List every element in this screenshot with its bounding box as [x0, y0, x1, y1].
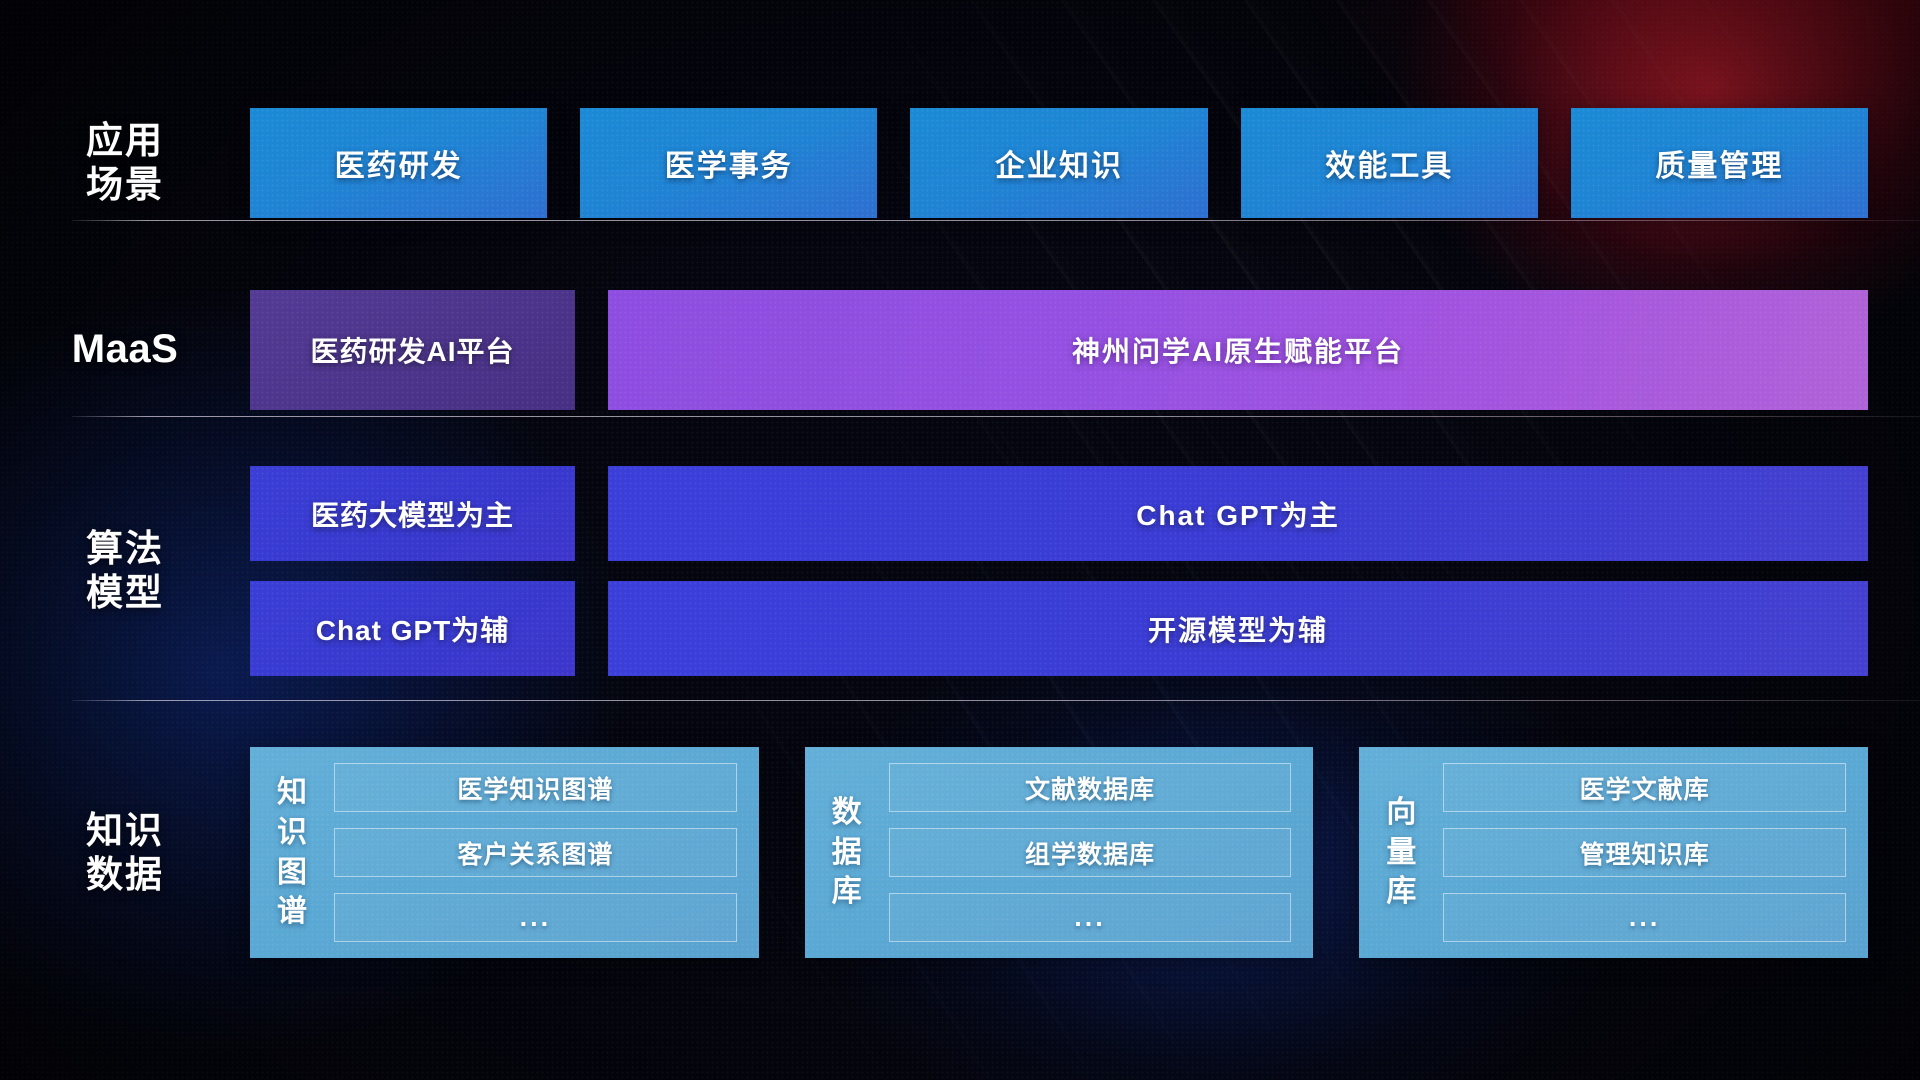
knowledge-panel-group: 知 识 图 谱 医学知识图谱 客户关系图谱 ... 数 据 库 [250, 747, 1920, 958]
row-label-applications-line2: 场景 [0, 163, 250, 207]
application-box-enterprise-knowledge[interactable]: 企业知识 [910, 108, 1207, 218]
divider-maas-algorithm [72, 416, 1920, 417]
vlabel-char: 向 [1386, 793, 1416, 833]
application-box-group: 医药研发 医学事务 企业知识 效能工具 质量管理 [250, 108, 1920, 218]
knowledge-panel-label-database: 数 据 库 [821, 763, 873, 942]
vlabel-char: 库 [832, 872, 862, 912]
row-label-maas: MaaS [0, 326, 250, 373]
layer-row-algorithm: 算法 模型 医药大模型为主 Chat GPT为主 Chat GPT为辅 开源模型… [0, 466, 1920, 676]
vlabel-char: 识 [277, 813, 307, 853]
knowledge-panel-label-knowledge-graph: 知 识 图 谱 [266, 763, 318, 942]
application-box-efficiency-tools[interactable]: 效能工具 [1241, 108, 1538, 218]
knowledge-item-literature-database[interactable]: 文献数据库 [889, 763, 1292, 812]
divider-applications-maas [72, 220, 1920, 221]
knowledge-panel-knowledge-graph[interactable]: 知 识 图 谱 医学知识图谱 客户关系图谱 ... [250, 747, 759, 958]
row-label-knowledge-line2: 数据 [0, 853, 250, 897]
row-label-algorithm-line2: 模型 [0, 571, 250, 615]
knowledge-item-medical-literature-store[interactable]: 医学文献库 [1443, 763, 1846, 812]
algorithm-row-secondary: Chat GPT为辅 开源模型为辅 [250, 581, 1868, 676]
knowledge-item-omics-database[interactable]: 组学数据库 [889, 828, 1292, 877]
maas-box-group: 医药研发AI平台 神州问学AI原生赋能平台 [250, 290, 1920, 410]
row-label-applications-line1: 应用 [0, 119, 250, 163]
row-label-algorithm: 算法 模型 [0, 527, 250, 614]
knowledge-item-customer-relation-graph[interactable]: 客户关系图谱 [334, 828, 737, 877]
algorithm-box-chatgpt-primary[interactable]: Chat GPT为主 [608, 466, 1868, 561]
vlabel-char: 谱 [277, 892, 307, 932]
vlabel-char: 库 [1386, 872, 1416, 912]
knowledge-item-list: 医学文献库 管理知识库 ... [1443, 763, 1846, 942]
knowledge-item-more-graph[interactable]: ... [334, 893, 737, 942]
layer-row-maas: MaaS 医药研发AI平台 神州问学AI原生赋能平台 [0, 290, 1920, 410]
maas-box-shenzhou-wenxue-platform[interactable]: 神州问学AI原生赋能平台 [608, 290, 1868, 410]
row-label-algorithm-line1: 算法 [0, 527, 250, 571]
vlabel-char: 量 [1386, 833, 1416, 873]
layer-row-applications: 应用 场景 医药研发 医学事务 企业知识 效能工具 质量管理 [0, 108, 1920, 218]
algorithm-box-opensource-secondary[interactable]: 开源模型为辅 [608, 581, 1868, 676]
knowledge-panel-database[interactable]: 数 据 库 文献数据库 组学数据库 ... [805, 747, 1314, 958]
divider-algorithm-knowledge [72, 700, 1920, 701]
knowledge-item-more-database[interactable]: ... [889, 893, 1292, 942]
knowledge-item-list: 医学知识图谱 客户关系图谱 ... [334, 763, 737, 942]
row-label-applications: 应用 场景 [0, 119, 250, 206]
application-box-medical-affairs[interactable]: 医学事务 [580, 108, 877, 218]
algorithm-box-medicine-llm-primary[interactable]: 医药大模型为主 [250, 466, 575, 561]
application-box-quality-management[interactable]: 质量管理 [1571, 108, 1868, 218]
algorithm-box-group: 医药大模型为主 Chat GPT为主 Chat GPT为辅 开源模型为辅 [250, 466, 1920, 676]
layer-row-knowledge: 知识 数据 知 识 图 谱 医学知识图谱 客户关系图谱 ... [0, 730, 1920, 975]
algorithm-box-chatgpt-secondary[interactable]: Chat GPT为辅 [250, 581, 575, 676]
knowledge-item-management-knowledge-store[interactable]: 管理知识库 [1443, 828, 1846, 877]
vlabel-char: 知 [277, 773, 307, 813]
vlabel-char: 图 [277, 853, 307, 893]
knowledge-item-list: 文献数据库 组学数据库 ... [889, 763, 1292, 942]
knowledge-panel-label-vector-store: 向 量 库 [1375, 763, 1427, 942]
architecture-diagram: 应用 场景 医药研发 医学事务 企业知识 效能工具 质量管理 MaaS 医药研发… [0, 0, 1920, 1080]
application-box-medicine-rd[interactable]: 医药研发 [250, 108, 547, 218]
knowledge-item-more-vector[interactable]: ... [1443, 893, 1846, 942]
knowledge-item-medical-knowledge-graph[interactable]: 医学知识图谱 [334, 763, 737, 812]
vlabel-char: 数 [832, 793, 862, 833]
row-label-knowledge: 知识 数据 [0, 809, 250, 896]
knowledge-panel-vector-store[interactable]: 向 量 库 医学文献库 管理知识库 ... [1359, 747, 1868, 958]
maas-box-medicine-ai-platform[interactable]: 医药研发AI平台 [250, 290, 575, 410]
row-label-knowledge-line1: 知识 [0, 809, 250, 853]
algorithm-row-primary: 医药大模型为主 Chat GPT为主 [250, 466, 1868, 561]
vlabel-char: 据 [832, 833, 862, 873]
